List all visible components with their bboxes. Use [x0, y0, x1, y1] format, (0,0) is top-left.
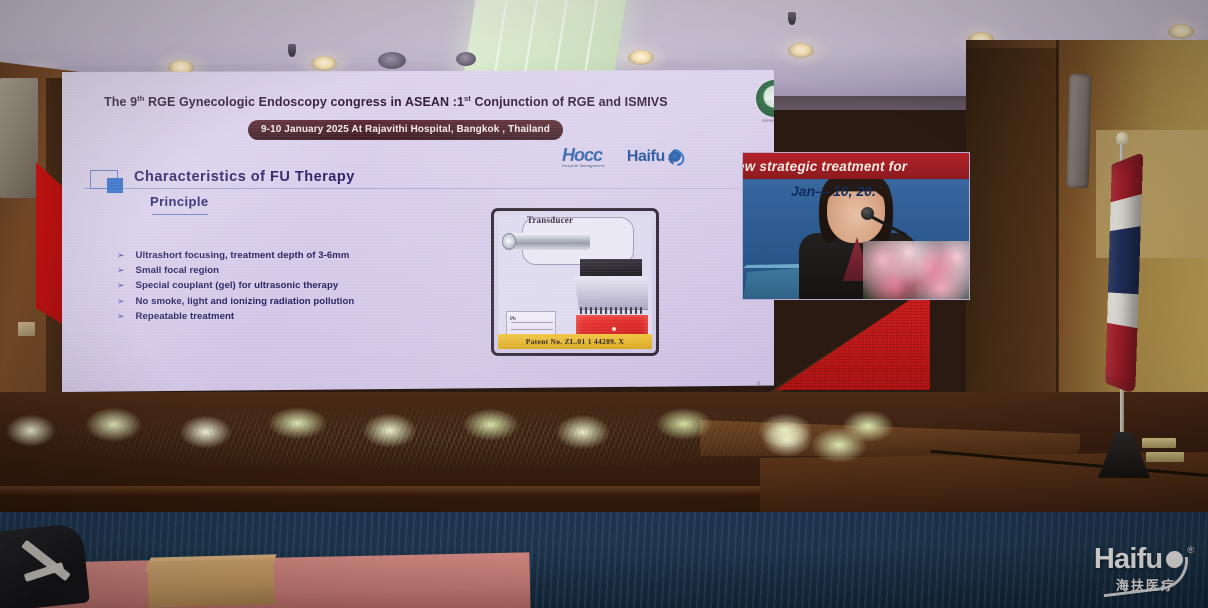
arrow-bullet-icon: ➢: [117, 251, 125, 260]
transducer-figure: Transducer Pb Cu Patent No. ZL.01 1 4428…: [491, 208, 659, 356]
logo-caption: DEPARTMENT OF MEDICAL SERVICES: [762, 119, 828, 123]
watermark-registered-icon: ®: [1187, 545, 1194, 555]
brand-logos: Hocc Hospital Management Haifu: [562, 146, 685, 169]
congress-title: The 9th RGE Gynecologic Endoscopy congre…: [104, 94, 744, 109]
bullet-text: Special couplant (gel) for ultrasonic th…: [136, 280, 339, 291]
list-item: ➢ Ultrashort focusing, treatment depth o…: [117, 250, 354, 261]
focal-point-marker: [612, 327, 616, 331]
slide-divider: [84, 188, 754, 189]
sprinkler-head-2: [788, 12, 796, 25]
stage-lip: [0, 486, 760, 496]
square-marker-icon: [90, 170, 118, 189]
screenshot-root: The 9th RGE Gynecologic Endoscopy congre…: [0, 0, 1208, 608]
list-item: ➢ No smoke, light and ionizing radiation…: [117, 296, 354, 307]
transducer-label: Transducer: [502, 215, 598, 225]
left-wall-plate: [18, 322, 35, 336]
downlight-4: [628, 50, 654, 65]
haifu-logo: Haifu: [627, 148, 685, 166]
list-item: ➢ Special couplant (gel) for ultrasonic …: [117, 280, 354, 291]
bullet-text: Ultrashort focusing, treatment depth of …: [136, 250, 350, 261]
title-ordinal-st: st: [464, 94, 471, 103]
hocc-logo: Hocc Hospital Management: [562, 146, 605, 169]
list-item: ➢ Repeatable treatment: [117, 311, 354, 322]
screen-glare: [62, 70, 774, 392]
haifu-watermark: Haifu ® 海扶医疗: [1094, 545, 1194, 594]
bullet-text: Repeatable treatment: [136, 311, 235, 322]
led-scanline-overlay: [62, 70, 774, 392]
transducer-end-cap: [502, 233, 516, 250]
slide-section-title: Characteristics of FU Therapy: [134, 169, 355, 185]
video-backdrop-subtext: Jan— 10, 20.: [791, 183, 876, 199]
live-video-feed[interactable]: Jan— 10, 20. ew strategic treatment for: [742, 152, 970, 300]
sprinkler-head-1: [288, 44, 296, 57]
column-speaker: [1067, 74, 1092, 189]
microphone-icon: [861, 207, 874, 220]
downlight-7: [1168, 24, 1194, 39]
cardboard-box: [147, 558, 274, 607]
flag-base-plate-2: [1146, 452, 1184, 462]
slide-page-number: 6: [757, 381, 760, 387]
bullet-text: Small focal region: [136, 265, 220, 276]
haifu-swoosh-icon: [664, 146, 687, 169]
arrow-bullet-icon: ➢: [117, 266, 125, 275]
arrow-bullet-icon: ➢: [117, 297, 125, 306]
device-body: [574, 276, 648, 310]
patent-bar: Patent No. ZL.01 1 44289. X: [498, 334, 652, 349]
device-housing-top: [580, 259, 642, 276]
subtitle-underline: [152, 214, 208, 215]
scale-label-pb: Pb: [510, 317, 516, 322]
ceiling-speaker-1: [378, 52, 406, 69]
patent-number: Patent No. ZL.01 1 44289. X: [526, 337, 625, 346]
floral-texture: [0, 404, 914, 478]
date-venue-badge: 9-10 January 2025 At Rajavithi Hospital,…: [248, 120, 563, 140]
arrow-bullet-icon: ➢: [117, 281, 125, 290]
bullet-list: ➢ Ultrashort focusing, treatment depth o…: [117, 250, 354, 326]
arrow-bullet-icon: ➢: [117, 312, 125, 321]
left-wall-fixture: [0, 78, 38, 198]
ceiling-speaker-2: [456, 52, 476, 66]
podium-flowers: [863, 241, 970, 300]
bullet-text: No smoke, light and ionizing radiation p…: [136, 296, 355, 307]
video-banner-text: ew strategic treatment for: [742, 159, 907, 174]
downlight-5: [788, 43, 814, 58]
hocc-logo-subtitle: Hospital Management: [562, 165, 605, 169]
device-emitter-array: [580, 307, 642, 314]
list-item: ➢ Small focal region: [117, 265, 354, 276]
presentation-screen[interactable]: The 9th RGE Gynecologic Endoscopy congre…: [62, 70, 774, 392]
flag-finial-icon: [1116, 132, 1128, 144]
slide-subtitle: Principle: [150, 194, 209, 209]
transducer-cylinder: [506, 233, 590, 250]
video-backdrop-banner: ew strategic treatment for: [743, 153, 969, 179]
downlight-3: [311, 56, 337, 71]
flag-base-plate-1: [1142, 438, 1176, 448]
